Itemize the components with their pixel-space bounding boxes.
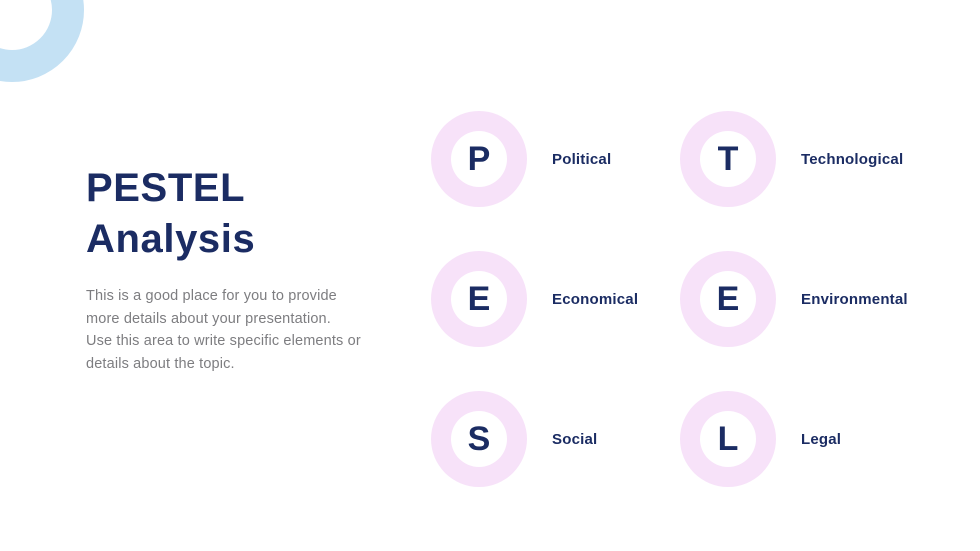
- pestel-analysis-slide: PESTEL Analysis This is a good place for…: [0, 0, 980, 551]
- circle-letter-text: S: [468, 422, 491, 456]
- letter-circle-e-economical: E: [431, 251, 527, 347]
- letter-circle-s: S: [431, 391, 527, 487]
- pestel-item-social[interactable]: S Social: [431, 369, 680, 509]
- letter-circle-l: L: [680, 391, 776, 487]
- pestel-label-political: Political: [552, 151, 611, 168]
- decorative-blue-ring: [0, 0, 84, 82]
- pestel-label-technological: Technological: [801, 151, 903, 168]
- pestel-item-technological[interactable]: T Technological: [680, 89, 929, 229]
- circle-letter-text: P: [468, 142, 491, 176]
- circle-letter-text: T: [718, 142, 739, 176]
- circle-letter-text: E: [717, 282, 740, 316]
- pestel-item-environmental[interactable]: E Environmental: [680, 229, 929, 369]
- left-text-block: PESTEL Analysis This is a good place for…: [86, 163, 386, 375]
- pestel-label-economical: Economical: [552, 291, 638, 308]
- pestel-item-economical[interactable]: E Economical: [431, 229, 680, 369]
- pestel-item-legal[interactable]: L Legal: [680, 369, 929, 509]
- pestel-label-social: Social: [552, 431, 597, 448]
- pestel-label-environmental: Environmental: [801, 291, 908, 308]
- description-text: This is a good place for you to provide …: [86, 285, 386, 375]
- circle-letter-text: L: [718, 422, 739, 456]
- pestel-item-political[interactable]: P Political: [431, 89, 680, 229]
- letter-circle-e-environmental: E: [680, 251, 776, 347]
- page-title: PESTEL Analysis: [86, 163, 386, 265]
- letter-circle-t: T: [680, 111, 776, 207]
- pestel-grid: P Political T Technological E Economical…: [431, 89, 961, 509]
- circle-letter-text: E: [468, 282, 491, 316]
- letter-circle-p: P: [431, 111, 527, 207]
- pestel-label-legal: Legal: [801, 431, 841, 448]
